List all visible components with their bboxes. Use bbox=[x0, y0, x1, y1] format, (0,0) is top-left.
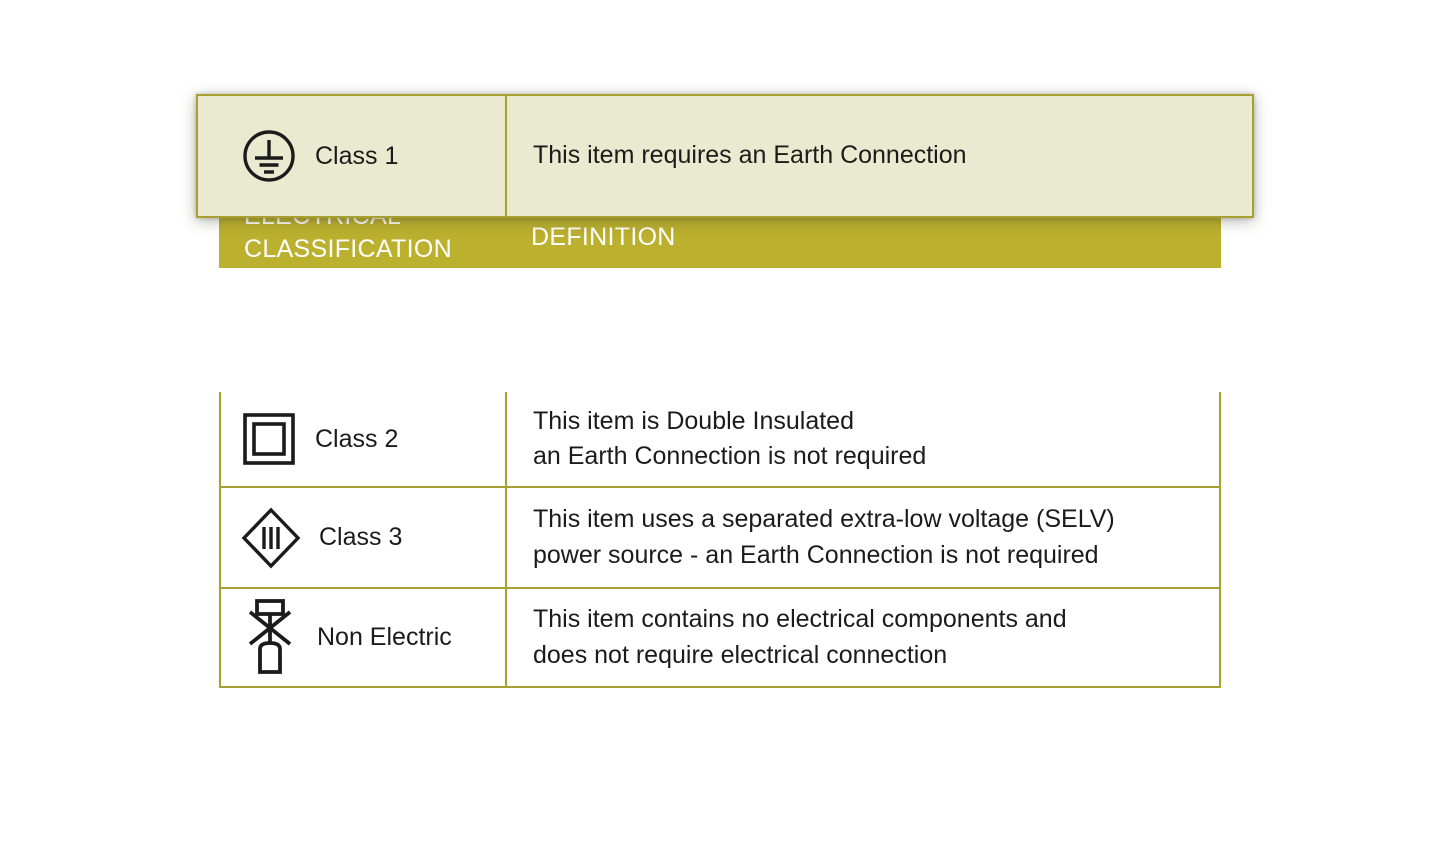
protective-earth-icon bbox=[241, 128, 297, 184]
table-row[interactable]: Class 3 This item uses a separated extra… bbox=[219, 488, 1221, 589]
classification-cell: Class 3 bbox=[221, 488, 507, 587]
electrical-classification-table: ELECTRICAL CLASSIFICATION DEFINITION Cla… bbox=[219, 180, 1221, 688]
definition-cell: This item uses a separated extra-low vol… bbox=[507, 488, 1219, 587]
definition-text: This item contains no electrical compone… bbox=[533, 602, 1067, 673]
definition-text: This item uses a separated extra-low vol… bbox=[533, 502, 1115, 573]
classification-label: Non Electric bbox=[317, 623, 452, 652]
definition-text: This item is Double Insulated an Earth C… bbox=[533, 404, 926, 475]
classification-label: Class 1 bbox=[315, 142, 398, 171]
definition-cell: This item requires an Earth Connection bbox=[507, 96, 1252, 216]
table-row[interactable]: Non Electric This item contains no elect… bbox=[219, 589, 1221, 688]
definition-cell: This item is Double Insulated an Earth C… bbox=[507, 392, 1219, 486]
classification-label: Class 2 bbox=[315, 425, 398, 454]
table-body: Class 1 This item requires an Earth Conn… bbox=[219, 268, 1221, 688]
classification-cell: Class 1 bbox=[198, 96, 507, 216]
double-square-icon bbox=[241, 413, 297, 465]
highlight-row-spacer bbox=[219, 268, 1221, 392]
crossed-out-plug-icon bbox=[241, 597, 299, 679]
table-row[interactable]: Class 2 This item is Double Insulated an… bbox=[219, 392, 1221, 488]
classification-cell: Class 2 bbox=[221, 392, 507, 486]
classification-label: Class 3 bbox=[319, 523, 402, 552]
definition-cell: This item contains no electrical compone… bbox=[507, 589, 1219, 686]
table-row[interactable]: Class 1 This item requires an Earth Conn… bbox=[196, 94, 1254, 218]
diamond-three-bars-icon bbox=[241, 507, 301, 569]
classification-cell: Non Electric bbox=[221, 589, 507, 686]
definition-text: This item requires an Earth Connection bbox=[533, 138, 967, 174]
